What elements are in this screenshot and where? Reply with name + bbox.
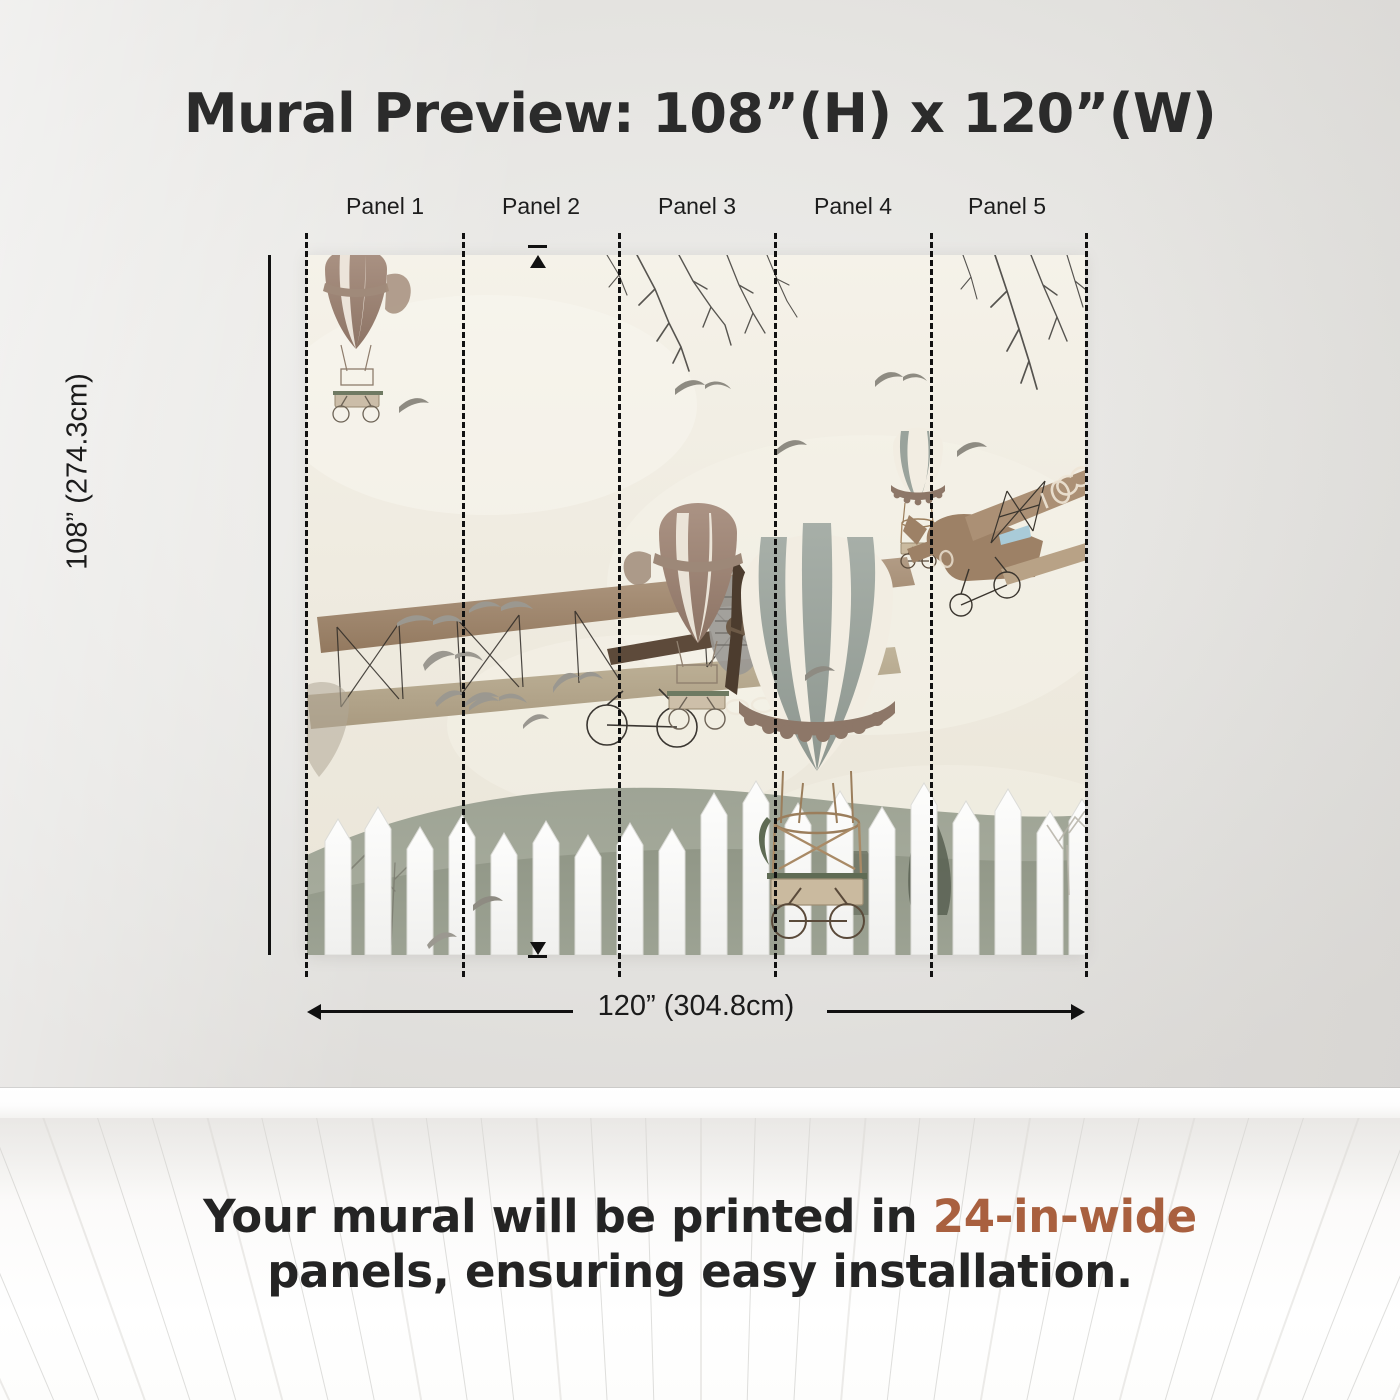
caption-accent-text: 24-in-wide [933, 1190, 1197, 1243]
panel-label-4: Panel 4 [775, 193, 931, 220]
page-title: Mural Preview: 108”(H) x 120”(W) [0, 82, 1400, 145]
panel-label-5: Panel 5 [929, 193, 1085, 220]
panel-divider-1 [462, 233, 465, 977]
height-cap-bottom [528, 955, 547, 958]
caption-text-before: Your mural will be printed in [203, 1190, 933, 1243]
panel-edge-left [305, 233, 308, 977]
height-cap-top [528, 245, 547, 248]
panel-divider-4 [930, 233, 933, 977]
panel-label-3: Panel 3 [619, 193, 775, 220]
height-arrow-down [530, 942, 546, 955]
caption-line-1: Your mural will be printed in 24-in-wide [0, 1190, 1400, 1245]
panel-edge-right [1085, 233, 1088, 977]
panel-label-1: Panel 1 [307, 193, 463, 220]
mural-artwork [307, 255, 1085, 955]
caption-line-2: panels, ensuring easy installation. [0, 1245, 1400, 1300]
height-dimension-line [268, 255, 271, 955]
panel-divider-3 [774, 233, 777, 977]
mural-preview-container[interactable]: Panel 1 Panel 2 Panel 3 Panel 4 Panel 5 [307, 255, 1085, 955]
height-arrow-up [530, 255, 546, 268]
footer-caption: Your mural will be printed in 24-in-wide… [0, 1190, 1400, 1300]
width-dimension-label: 120” (304.8cm) [307, 990, 1085, 1023]
mural-illustration [307, 255, 1085, 955]
height-dimension-label: 108” (274.3cm) [62, 312, 95, 632]
panel-label-2: Panel 2 [463, 193, 619, 220]
panel-divider-2 [618, 233, 621, 977]
baseboard [0, 1088, 1400, 1120]
